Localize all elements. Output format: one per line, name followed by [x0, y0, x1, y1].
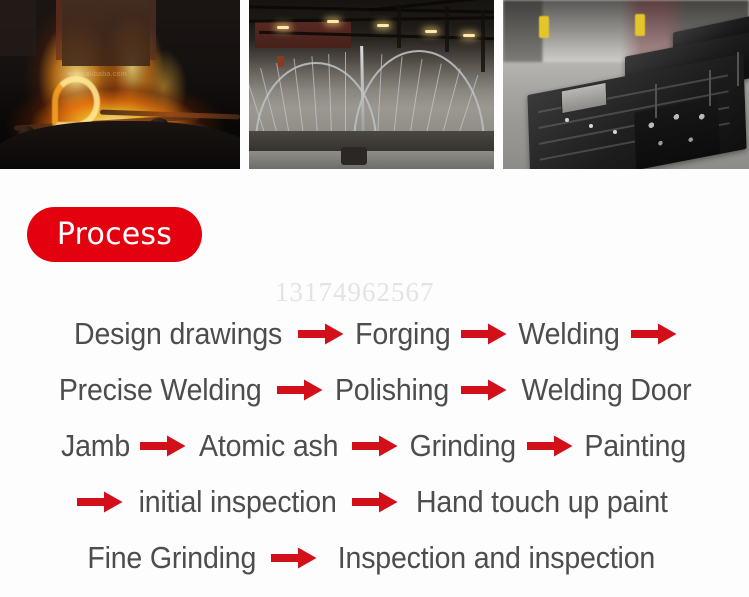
- floor-cart: [341, 147, 367, 165]
- ceiling-lamp: [425, 30, 437, 33]
- process-step: Welding: [519, 316, 620, 352]
- ceiling-lamp: [463, 34, 475, 37]
- worker-hi-vis-vest: [539, 16, 549, 38]
- right-arrow-icon: [352, 435, 398, 457]
- right-arrow-icon: [461, 379, 507, 401]
- ceiling-lamp: [377, 24, 389, 27]
- forge-post-left: [56, 0, 62, 60]
- process-flow-line: Precise WeldingPolishingWelding Door: [0, 362, 749, 418]
- roof-beam: [249, 16, 494, 22]
- process-badge: Process: [27, 207, 202, 262]
- trestle-leg: [737, 52, 739, 86]
- arch-rib: [345, 52, 346, 136]
- right-arrow-icon: [271, 547, 317, 569]
- photo-strip: www.alibaba.com: [0, 0, 749, 169]
- forge-scene: [0, 0, 240, 169]
- phone-number-watermark: 13174962567: [275, 277, 435, 308]
- door-panel-scene: [503, 0, 749, 169]
- arch-frame-right: [353, 50, 485, 144]
- process-step: Welding Door: [522, 372, 692, 408]
- arch-base-rail: [249, 131, 494, 153]
- process-step: Hand touch up paint: [416, 484, 668, 520]
- panel-stud: [613, 130, 617, 134]
- right-arrow-icon: [352, 491, 398, 513]
- painted-door-panels-photo: [503, 0, 749, 169]
- process-step: Jamb: [61, 428, 130, 464]
- panel-stud: [565, 118, 569, 122]
- process-step: Inspection and inspection: [338, 540, 655, 576]
- workshop-floor: [249, 151, 494, 169]
- process-step: Precise Welding: [59, 372, 262, 408]
- process-flow-line: Design drawingsForgingWelding: [0, 306, 749, 362]
- forging-furnace-photo: www.alibaba.com: [0, 0, 240, 169]
- ceiling-lamp: [277, 26, 289, 29]
- process-flow-line: initial inspectionHand touch up paint: [0, 474, 749, 530]
- process-step: Atomic ash: [199, 428, 338, 464]
- process-step: Polishing: [335, 372, 449, 408]
- panel-stud: [589, 124, 593, 128]
- process-infographic-page: www.alibaba.com: [0, 0, 749, 597]
- workshop-scene: [249, 0, 494, 169]
- process-step: Forging: [355, 316, 450, 352]
- trestle-leg: [655, 84, 657, 118]
- process-step: Grinding: [409, 428, 515, 464]
- glowing-scroll-work: [52, 76, 100, 128]
- process-step: Design drawings: [74, 316, 282, 352]
- worker-hi-vis-vest: [635, 14, 645, 36]
- roof-column: [445, 6, 449, 52]
- roof-column: [397, 6, 401, 48]
- right-arrow-icon: [140, 435, 186, 457]
- roof-column: [481, 10, 485, 72]
- right-arrow-icon: [298, 323, 344, 345]
- trestle-leg: [709, 70, 711, 106]
- process-flow-list: Design drawingsForgingWeldingPrecise Wel…: [0, 306, 749, 586]
- ceiling-lamp: [327, 20, 339, 23]
- process-flow-line: JambAtomic ashGrindingPainting: [0, 418, 749, 474]
- right-arrow-icon: [77, 491, 123, 513]
- process-step: Fine Grinding: [88, 540, 257, 576]
- right-arrow-icon: [461, 323, 507, 345]
- welded-arch-canopy-photo: [249, 0, 494, 169]
- right-arrow-icon: [527, 435, 573, 457]
- forge-hearth-rim: [0, 121, 240, 169]
- process-step: Painting: [585, 428, 687, 464]
- process-badge-label: Process: [57, 217, 172, 252]
- forge-back-wall-left: [0, 0, 36, 56]
- process-step: initial inspection: [139, 484, 337, 520]
- forge-back-wall: [62, 0, 150, 66]
- forge-post-right: [150, 0, 156, 60]
- right-arrow-icon: [277, 379, 323, 401]
- process-flow-line: Fine GrindingInspection and inspection: [0, 530, 749, 586]
- right-arrow-icon: [631, 323, 677, 345]
